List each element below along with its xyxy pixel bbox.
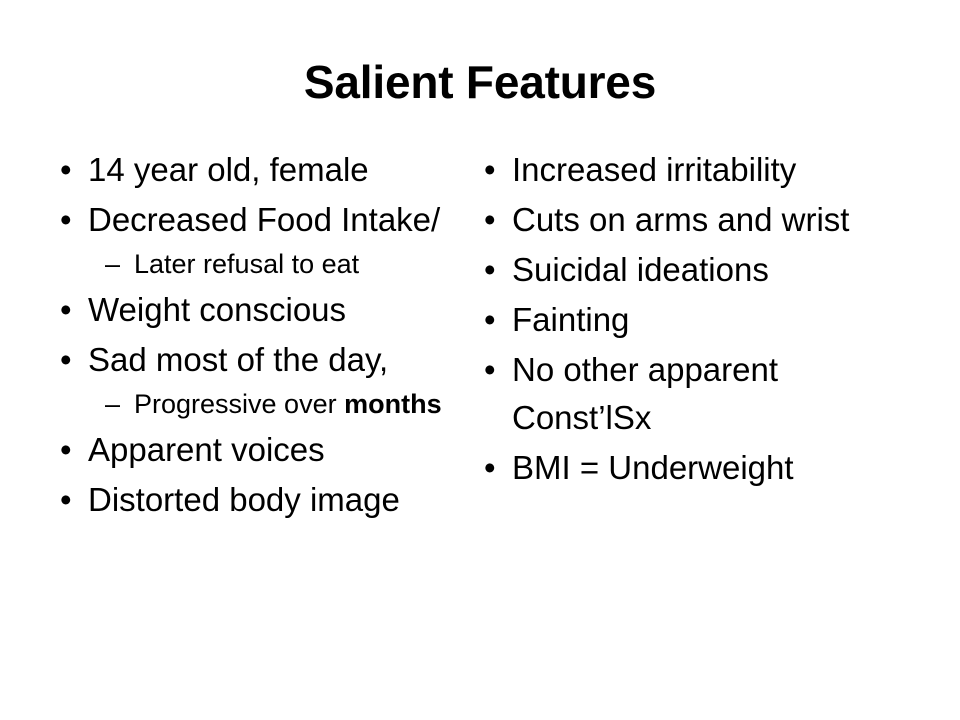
- list-item: • Sad most of the day, – Progressive ove…: [58, 336, 466, 424]
- list-item: • Apparent voices: [58, 426, 466, 474]
- list-item: • Suicidal ideations: [482, 246, 910, 294]
- page-title: Salient Features: [0, 56, 960, 109]
- bullet-icon: •: [60, 196, 72, 244]
- bullet-icon: •: [484, 296, 496, 344]
- bullet-icon: •: [484, 146, 496, 194]
- list-item-label: Cuts on arms and wrist: [512, 201, 849, 238]
- list-item-label: Decreased Food Intake/: [88, 201, 440, 238]
- list-item-label: Suicidal ideations: [512, 251, 769, 288]
- list-item-label: Increased irritability: [512, 151, 796, 188]
- bullet-icon: •: [484, 444, 496, 492]
- bullet-icon: •: [60, 146, 72, 194]
- list-item: • Fainting: [482, 296, 910, 344]
- list-item: • Weight conscious: [58, 286, 466, 334]
- dash-icon: –: [105, 384, 120, 424]
- bullet-icon: •: [484, 246, 496, 294]
- bullet-icon: •: [60, 286, 72, 334]
- bullet-icon: •: [60, 426, 72, 474]
- bullet-icon: •: [60, 476, 72, 524]
- list-item: • 14 year old, female: [58, 146, 466, 194]
- left-bullet-list: • 14 year old, female • Decreased Food I…: [58, 146, 466, 524]
- sub-list-item: – Progressive over months: [105, 384, 466, 424]
- slide-body: • 14 year old, female • Decreased Food I…: [0, 146, 960, 526]
- list-item-label: 14 year old, female: [88, 151, 369, 188]
- sub-bullet-list: – Later refusal to eat: [88, 244, 466, 284]
- list-item-label: Distorted body image: [88, 481, 400, 518]
- list-item-label: Sad most of the day,: [88, 341, 388, 378]
- sub-list-item-emphasis: months: [344, 389, 442, 419]
- list-item-label: Apparent voices: [88, 431, 325, 468]
- right-bullet-list: • Increased irritability • Cuts on arms …: [482, 146, 910, 492]
- right-content-column: • Increased irritability • Cuts on arms …: [470, 146, 940, 494]
- list-item: • Cuts on arms and wrist: [482, 196, 910, 244]
- list-item: • Distorted body image: [58, 476, 466, 524]
- bullet-icon: •: [484, 196, 496, 244]
- presentation-slide: Salient Features • 14 year old, female •…: [0, 0, 960, 720]
- list-item: • Increased irritability: [482, 146, 910, 194]
- sub-bullet-list: – Progressive over months: [88, 384, 466, 424]
- dash-icon: –: [105, 244, 120, 284]
- list-item-label: BMI = Underweight: [512, 449, 794, 486]
- bullet-icon: •: [484, 346, 496, 394]
- list-item: • No other apparent Const’lSx: [482, 346, 910, 442]
- bullet-icon: •: [60, 336, 72, 384]
- sub-list-item-label: Later refusal to eat: [134, 249, 359, 279]
- list-item-label: Weight conscious: [88, 291, 346, 328]
- sub-list-item-label: Progressive over: [134, 389, 344, 419]
- left-content-column: • 14 year old, female • Decreased Food I…: [0, 146, 470, 526]
- list-item: • Decreased Food Intake/ – Later refusal…: [58, 196, 466, 284]
- sub-list-item: – Later refusal to eat: [105, 244, 466, 284]
- list-item-label: No other apparent Const’lSx: [512, 351, 778, 436]
- list-item: • BMI = Underweight: [482, 444, 910, 492]
- list-item-label: Fainting: [512, 301, 629, 338]
